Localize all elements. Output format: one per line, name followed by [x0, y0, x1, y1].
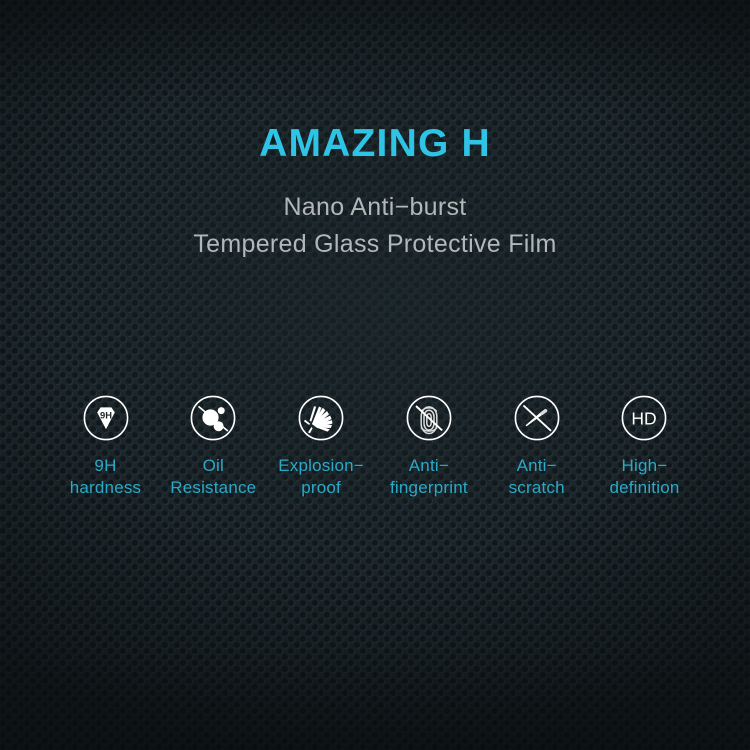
- feature-label: Anti− scratch: [509, 455, 565, 500]
- blade-slash-icon: [513, 394, 561, 442]
- oil-droplets-icon: [189, 394, 237, 442]
- feature-label: Explosion− proof: [278, 455, 364, 500]
- hex-mesh-background: [0, 0, 750, 750]
- feature-label: 9H hardness: [70, 455, 142, 500]
- feature-label: Anti− fingerprint: [390, 455, 468, 500]
- feature-item-9h-hardness: 9H 9H hardness: [52, 394, 159, 500]
- hd-badge-icon: HD: [620, 394, 668, 442]
- feature-list: 9H 9H hardness Oil Resistance: [52, 394, 698, 500]
- subtitle-line-2: Tempered Glass Protective Film: [0, 227, 750, 263]
- header-block: AMAZING H Nano Anti−burst Tempered Glass…: [0, 122, 750, 263]
- diamond-9h-icon: 9H: [82, 394, 130, 442]
- feature-item-high-definition: HD High− definition: [591, 394, 698, 500]
- shatter-burst-icon: [297, 394, 345, 442]
- page-title: AMAZING H: [0, 122, 750, 167]
- icon-badge-text: HD: [632, 408, 657, 428]
- feature-label: Oil Resistance: [170, 455, 256, 500]
- feature-label: High− definition: [609, 455, 679, 500]
- feature-item-explosion-proof: Explosion− proof: [268, 394, 375, 500]
- feature-item-anti-scratch: Anti− scratch: [483, 394, 590, 500]
- feature-item-oil-resistance: Oil Resistance: [160, 394, 267, 500]
- subtitle-line-1: Nano Anti−burst: [0, 190, 750, 226]
- product-feature-banner: AMAZING H Nano Anti−burst Tempered Glass…: [0, 0, 750, 750]
- feature-item-anti-fingerprint: Anti− fingerprint: [375, 394, 482, 500]
- fingerprint-slash-icon: [405, 394, 453, 442]
- icon-badge-text: 9H: [100, 410, 112, 421]
